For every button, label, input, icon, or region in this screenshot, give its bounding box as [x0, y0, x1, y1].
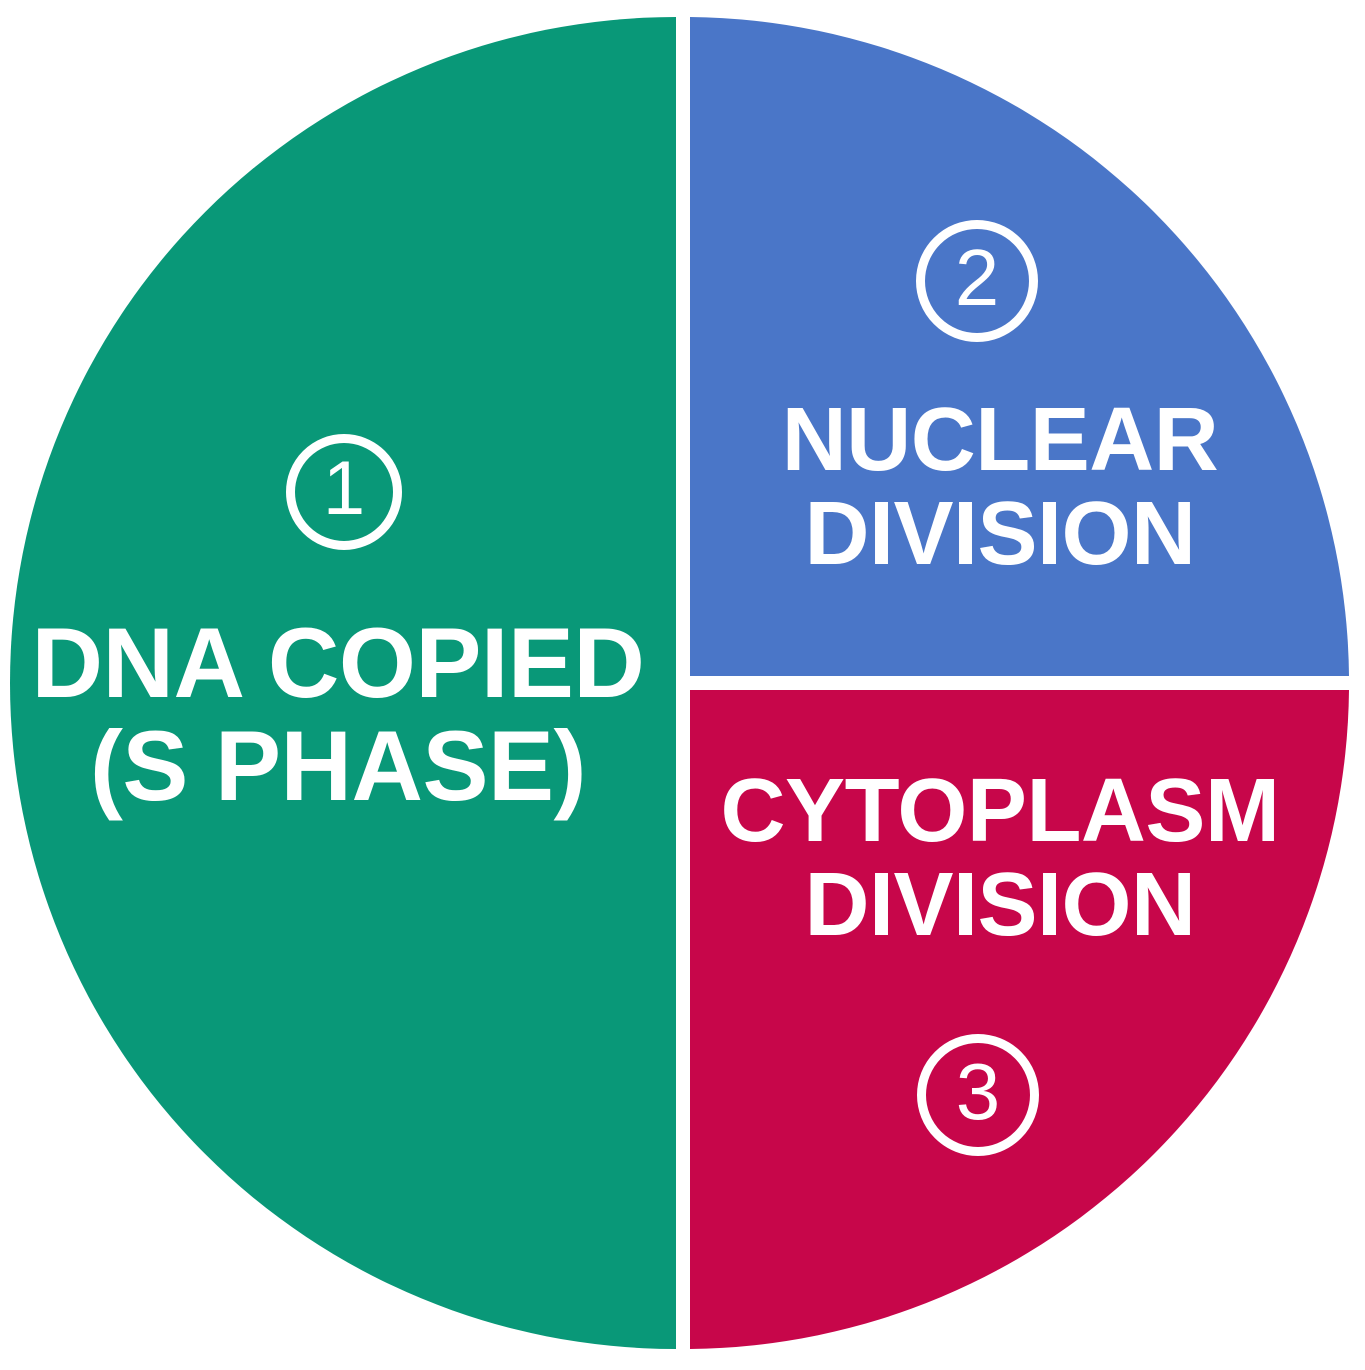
segment-blue-nuclear-division[interactable] [690, 17, 1349, 676]
badge-step-1-number: 1 [323, 451, 365, 527]
circle-segments-svg [0, 0, 1365, 1370]
badge-step-2-number: 2 [955, 238, 1000, 318]
badge-step-1: 1 [286, 434, 402, 550]
segment-green-dna-copied[interactable] [10, 17, 676, 1349]
segmented-circle-diagram: 1 DNA COPIED (S PHASE) 2 NUCLEAR DIVISIO… [0, 0, 1365, 1370]
badge-step-2: 2 [916, 220, 1038, 342]
badge-step-3: 3 [917, 1034, 1039, 1156]
badge-step-3-number: 3 [956, 1052, 1001, 1132]
segment-crimson-cytoplasm-division[interactable] [690, 690, 1349, 1349]
